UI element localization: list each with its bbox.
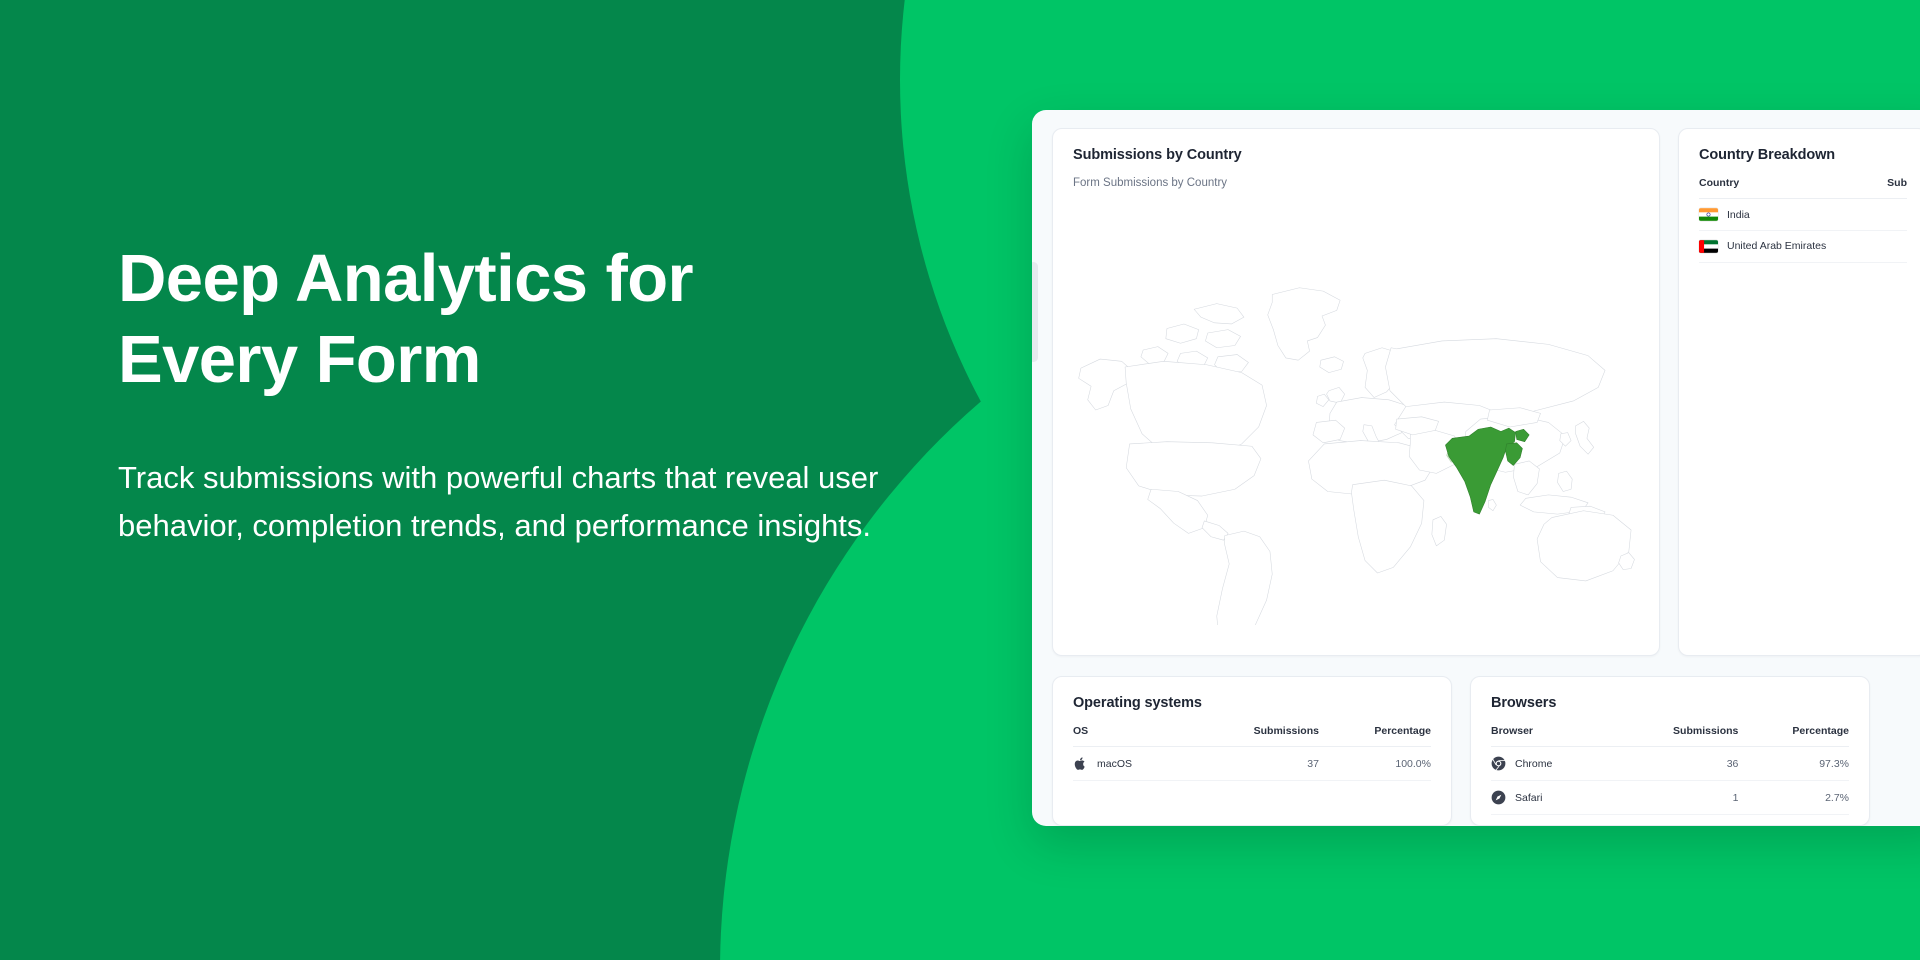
page-title: Deep Analytics for Every Form xyxy=(118,238,918,400)
browser-label: Chrome xyxy=(1515,758,1552,770)
panel-scroll-handle[interactable] xyxy=(1032,262,1038,362)
world-map-chart[interactable] xyxy=(1073,195,1639,625)
table-header-row: OS Submissions Percentage xyxy=(1073,725,1431,747)
browser-label: Safari xyxy=(1515,792,1542,804)
analytics-dashboard-panel: Submissions by Country Form Submissions … xyxy=(1032,110,1920,826)
column-header-country: Country xyxy=(1699,177,1879,199)
flag-india-icon xyxy=(1699,208,1718,221)
card-title-country-breakdown: Country Breakdown xyxy=(1699,147,1907,163)
table-row[interactable]: Chrome 36 97.3% xyxy=(1491,747,1849,781)
table-header-row: Country Sub xyxy=(1699,177,1907,199)
column-header-percentage: Percentage xyxy=(1319,725,1431,747)
browsers-card: Browsers Browser Submissions Percentage xyxy=(1470,676,1870,826)
country-breakdown-card: Country Breakdown Country Sub xyxy=(1678,128,1920,656)
browser-submissions-cell: 1 xyxy=(1611,781,1739,815)
browser-submissions-cell: 36 xyxy=(1611,747,1739,781)
table-row[interactable]: India xyxy=(1699,199,1907,231)
column-header-submissions: Sub xyxy=(1879,177,1907,199)
hero-banner: Deep Analytics for Every Form Track subm… xyxy=(0,0,1920,960)
column-header-percentage: Percentage xyxy=(1738,725,1849,747)
table-row[interactable]: macOS 37 100.0% xyxy=(1073,747,1431,781)
country-cell-india: India xyxy=(1699,199,1879,231)
apple-icon xyxy=(1073,756,1088,771)
card-title-submissions-by-country: Submissions by Country xyxy=(1073,147,1639,163)
country-label: United Arab Emirates xyxy=(1727,240,1826,253)
card-title-operating-systems: Operating systems xyxy=(1073,695,1431,711)
browser-percentage-cell: 2.7% xyxy=(1738,781,1849,815)
browsers-table: Browser Submissions Percentage xyxy=(1491,725,1849,815)
card-title-browsers: Browsers xyxy=(1491,695,1849,711)
table-row[interactable]: Safari 1 2.7% xyxy=(1491,781,1849,815)
chrome-icon xyxy=(1491,756,1506,771)
table-header-row: Browser Submissions Percentage xyxy=(1491,725,1849,747)
operating-systems-card: Operating systems OS Submissions Percent… xyxy=(1052,676,1452,826)
country-submissions-cell xyxy=(1879,199,1907,231)
os-submissions-cell: 37 xyxy=(1190,747,1319,781)
browser-name-cell: Chrome xyxy=(1491,747,1611,781)
hero-subtitle: Track submissions with powerful charts t… xyxy=(118,454,898,550)
os-name-cell: macOS xyxy=(1073,747,1190,781)
table-row[interactable]: United Arab Emirates xyxy=(1699,231,1907,263)
country-breakdown-table: Country Sub xyxy=(1699,177,1907,263)
country-cell-uae: United Arab Emirates xyxy=(1699,231,1879,263)
hero-copy: Deep Analytics for Every Form Track subm… xyxy=(118,238,918,550)
country-submissions-cell xyxy=(1879,231,1907,263)
os-label: macOS xyxy=(1097,758,1132,770)
submissions-by-country-card: Submissions by Country Form Submissions … xyxy=(1052,128,1660,656)
safari-icon xyxy=(1491,790,1506,805)
column-header-os: OS xyxy=(1073,725,1190,747)
operating-systems-table: OS Submissions Percentage xyxy=(1073,725,1431,781)
browser-name-cell: Safari xyxy=(1491,781,1611,815)
column-header-submissions: Submissions xyxy=(1611,725,1739,747)
card-subtitle-submissions-by-country: Form Submissions by Country xyxy=(1073,177,1639,189)
browser-percentage-cell: 97.3% xyxy=(1738,747,1849,781)
flag-uae-icon xyxy=(1699,240,1718,253)
column-header-submissions: Submissions xyxy=(1190,725,1319,747)
os-percentage-cell: 100.0% xyxy=(1319,747,1431,781)
country-label: India xyxy=(1727,209,1750,221)
column-header-browser: Browser xyxy=(1491,725,1611,747)
